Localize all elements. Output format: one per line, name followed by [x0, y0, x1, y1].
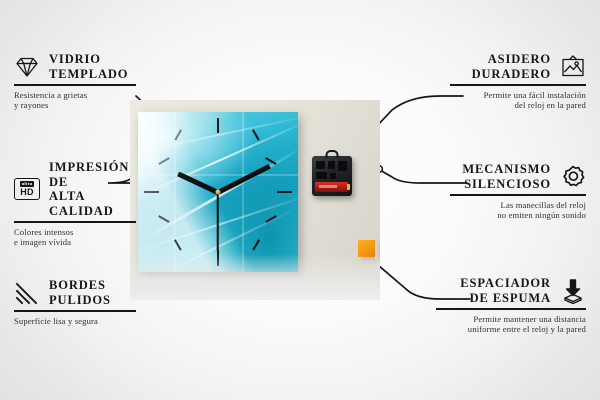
feature-rule — [14, 221, 136, 223]
mechanism-hook-icon — [326, 150, 339, 158]
feature-rule — [450, 84, 586, 86]
feature-title: ASIDERO DURADERO — [472, 52, 551, 81]
feature-title: BORDES PULIDOS — [49, 278, 111, 307]
feature-title: ESPACIADOR DE ESPUMA — [460, 276, 551, 305]
ultra-hd-icon: ultra HD — [14, 178, 40, 200]
feature-impresion-alta-calidad: ultra HD IMPRESIÓN DE ALTA CALIDAD Color… — [14, 160, 136, 248]
feature-bordes-pulidos: BORDES PULIDOS Superficie lisa y segura — [14, 278, 136, 326]
framed-picture-icon — [560, 54, 586, 80]
diamond-icon — [14, 54, 40, 80]
feature-vidrio-templado: VIDRIO TEMPLADO Resistencia a grietas y … — [14, 52, 136, 111]
wall-clock — [138, 112, 298, 272]
feature-subtitle: Colores intensos e imagen vívida — [14, 227, 136, 248]
hands-center-pin — [216, 190, 221, 195]
feature-mecanismo-silencioso: MECANISMO SILENCIOSO Las manecillas del … — [450, 162, 586, 221]
diagonal-lines-icon — [14, 280, 40, 306]
panel-bottom-fade — [130, 254, 380, 300]
clock-mechanism — [312, 156, 352, 196]
feature-subtitle: Permite mantener una distancia uniforme … — [436, 314, 586, 335]
feature-subtitle: Las manecillas del reloj no emiten ningú… — [450, 200, 586, 221]
second-hand — [217, 192, 219, 252]
battery — [315, 182, 348, 192]
feature-rule — [450, 194, 586, 196]
feature-espaciador-de-espuma: ESPACIADOR DE ESPUMA Permite mantener un… — [436, 276, 586, 335]
infographic-canvas: VIDRIO TEMPLADO Resistencia a grietas y … — [0, 0, 600, 400]
feature-subtitle: Superficie lisa y segura — [14, 316, 136, 327]
feature-title: VIDRIO TEMPLADO — [49, 52, 128, 81]
gear-icon — [560, 164, 586, 190]
spacer-arrow-icon — [560, 278, 586, 304]
feature-asidero-duradero: ASIDERO DURADERO Permite una fácil insta… — [450, 52, 586, 111]
ultra-hd-main-label: HD — [20, 188, 34, 197]
feature-subtitle: Resistencia a grietas y rayones — [14, 90, 136, 111]
feature-rule — [14, 84, 136, 86]
feature-title: MECANISMO SILENCIOSO — [462, 162, 551, 191]
feature-title: IMPRESIÓN DE ALTA CALIDAD — [49, 160, 136, 218]
feature-subtitle: Permite una fácil instalación del reloj … — [450, 90, 586, 111]
feature-rule — [436, 308, 586, 310]
product-photo — [130, 100, 380, 300]
feature-rule — [14, 310, 136, 312]
